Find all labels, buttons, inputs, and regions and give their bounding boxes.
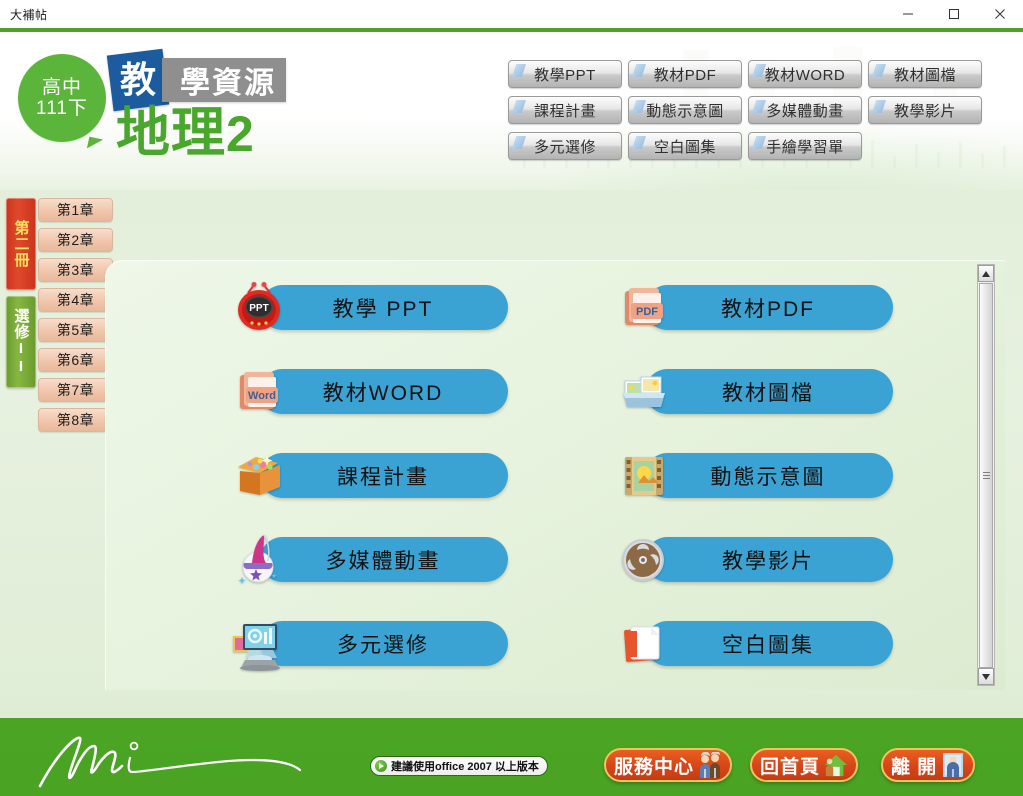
teaching-logo-char: 教: [120, 62, 156, 98]
resource-item-course-plan[interactable]: 課程計畫: [235, 446, 570, 506]
maximize-button[interactable]: [931, 0, 977, 28]
sidebar-item-chapter-1[interactable]: 第1章: [38, 198, 113, 222]
tv-ppt-icon: PPT: [231, 280, 287, 336]
resource-label: 多媒體動畫: [263, 541, 503, 579]
resource-item-teaching-ppt[interactable]: PPT 教學 PPT: [235, 278, 570, 338]
resource-label: 教學影片: [648, 541, 888, 579]
nav-button-material-images[interactable]: 教材圖檔: [868, 60, 982, 88]
resource-label: 教學 PPT: [263, 289, 503, 327]
exit-label: 離 開: [891, 752, 937, 779]
service-center-label: 服務中心: [614, 752, 694, 779]
header-nav-buttons: 教學PPT 教材PDF 教材WORD 教材圖檔 課程計畫 動態示意圖 多媒體動畫…: [508, 60, 1008, 160]
resource-item-teaching-video[interactable]: 教學影片: [620, 530, 955, 590]
sidebar-item-chapter-5[interactable]: 第5章: [38, 318, 113, 342]
nani-logo: [18, 724, 338, 795]
svg-text:Word: Word: [248, 390, 276, 402]
film-reel-icon: [616, 532, 672, 588]
content-scrollbar[interactable]: [977, 264, 995, 686]
resource-panel: PPT 教學 PPT PDF 教材PDF: [105, 260, 1005, 690]
play-icon: [375, 760, 387, 772]
resource-item-material-pdf[interactable]: PDF 教材PDF: [620, 278, 955, 338]
nav-button-course-plan[interactable]: 課程計畫: [508, 96, 622, 124]
magic-hat-icon: [231, 532, 287, 588]
resource-label: 空白圖集: [648, 625, 888, 663]
sidebar-item-chapter-4[interactable]: 第4章: [38, 288, 113, 312]
resource-item-material-word[interactable]: Word 教材WORD: [235, 362, 570, 422]
grade-badge: 高中 111下: [18, 54, 106, 142]
resource-item-animation-diagram[interactable]: 動態示意圖: [620, 446, 955, 506]
scroll-down-button[interactable]: [978, 668, 994, 685]
exit-button[interactable]: 離 開: [881, 748, 975, 782]
scrollbar-thumb[interactable]: [979, 283, 993, 668]
teaching-resource-label: 學資源: [162, 58, 286, 102]
window-controls: [885, 0, 1023, 28]
exit-door-icon: [941, 752, 965, 778]
close-button[interactable]: [977, 0, 1023, 28]
resource-item-material-images[interactable]: 教材圖檔: [620, 362, 955, 422]
resource-label: 動態示意圖: [648, 457, 888, 495]
subject-name: 地理: [116, 103, 226, 163]
monitor-chart-icon: [231, 616, 287, 672]
subject-number: 2: [226, 106, 255, 162]
home-button[interactable]: 回首頁: [750, 748, 858, 782]
resource-grid: PPT 教學 PPT PDF 教材PDF: [235, 278, 955, 674]
people-icon: [698, 752, 722, 778]
home-label: 回首頁: [760, 752, 820, 779]
sidebar-item-chapter-6[interactable]: 第6章: [38, 348, 113, 372]
nav-button-handdrawn-sheet[interactable]: 手繪學習單: [748, 132, 862, 160]
service-center-button[interactable]: 服務中心: [604, 748, 732, 782]
nav-button-material-pdf[interactable]: 教材PDF: [628, 60, 742, 88]
folder-word-icon: Word: [231, 364, 287, 420]
window-title: 大補帖: [10, 6, 48, 23]
page-title: 地理2: [116, 106, 255, 160]
sidebar-volume-tab-elective[interactable]: 選修II: [6, 296, 36, 388]
nav-button-animation-diagram[interactable]: 動態示意圖: [628, 96, 742, 124]
treasure-box-icon: [231, 448, 287, 504]
svg-text:PDF: PDF: [636, 306, 658, 318]
resource-item-blank-gallery[interactable]: 空白圖集: [620, 614, 955, 674]
nav-button-teaching-ppt[interactable]: 教學PPT: [508, 60, 622, 88]
resource-label: 多元選修: [263, 625, 503, 663]
brand-logo: 高中 111下 教 學資源 地理2: [18, 44, 318, 184]
office-version-notice: 建議使用office 2007 以上版本: [370, 756, 548, 776]
film-strip-icon: [616, 448, 672, 504]
sidebar-item-chapter-2[interactable]: 第2章: [38, 228, 113, 252]
grade-badge-line2: 111下: [36, 98, 88, 119]
blank-pages-icon: [616, 616, 672, 672]
home-icon: [824, 752, 848, 778]
resource-item-multimedia[interactable]: 多媒體動畫: [235, 530, 570, 590]
scrollbar-grip: [983, 472, 990, 480]
sidebar-item-chapter-8[interactable]: 第8章: [38, 408, 113, 432]
teaching-logo-mark: 教: [107, 49, 169, 111]
scroll-up-button[interactable]: [978, 265, 994, 282]
nav-button-teaching-video[interactable]: 教學影片: [868, 96, 982, 124]
resource-label: 教材WORD: [263, 373, 503, 411]
sidebar-item-chapter-3[interactable]: 第3章: [38, 258, 113, 282]
sidebar-item-chapter-7[interactable]: 第7章: [38, 378, 113, 402]
resource-item-elective[interactable]: 多元選修: [235, 614, 570, 674]
minimize-button[interactable]: [885, 0, 931, 28]
sidebar-volume-tab-book2[interactable]: 第二冊: [6, 198, 36, 290]
page-header: 高中 111下 教 學資源 地理2 教學PPT 教材PDF 教材WORD 教材圖…: [0, 32, 1023, 190]
nav-button-material-word[interactable]: 教材WORD: [748, 60, 862, 88]
grade-badge-line1: 高中: [42, 77, 82, 98]
nav-button-elective[interactable]: 多元選修: [508, 132, 622, 160]
window-title-bar: 大補帖: [0, 0, 1023, 28]
resource-label: 課程計畫: [263, 457, 503, 495]
nav-button-multimedia[interactable]: 多媒體動畫: [748, 96, 862, 124]
content-area: 第二冊 選修II 第1章 第2章 第3章 第4章 第5章 第6章 第7章 第8章: [0, 190, 1023, 718]
svg-text:PPT: PPT: [249, 303, 268, 314]
photo-box-icon: [616, 364, 672, 420]
resource-label: 教材圖檔: [648, 373, 888, 411]
office-notice-text: 建議使用office 2007 以上版本: [391, 758, 539, 774]
nav-button-blank-gallery[interactable]: 空白圖集: [628, 132, 742, 160]
resource-label: 教材PDF: [648, 289, 888, 327]
folder-pdf-icon: PDF: [616, 280, 672, 336]
